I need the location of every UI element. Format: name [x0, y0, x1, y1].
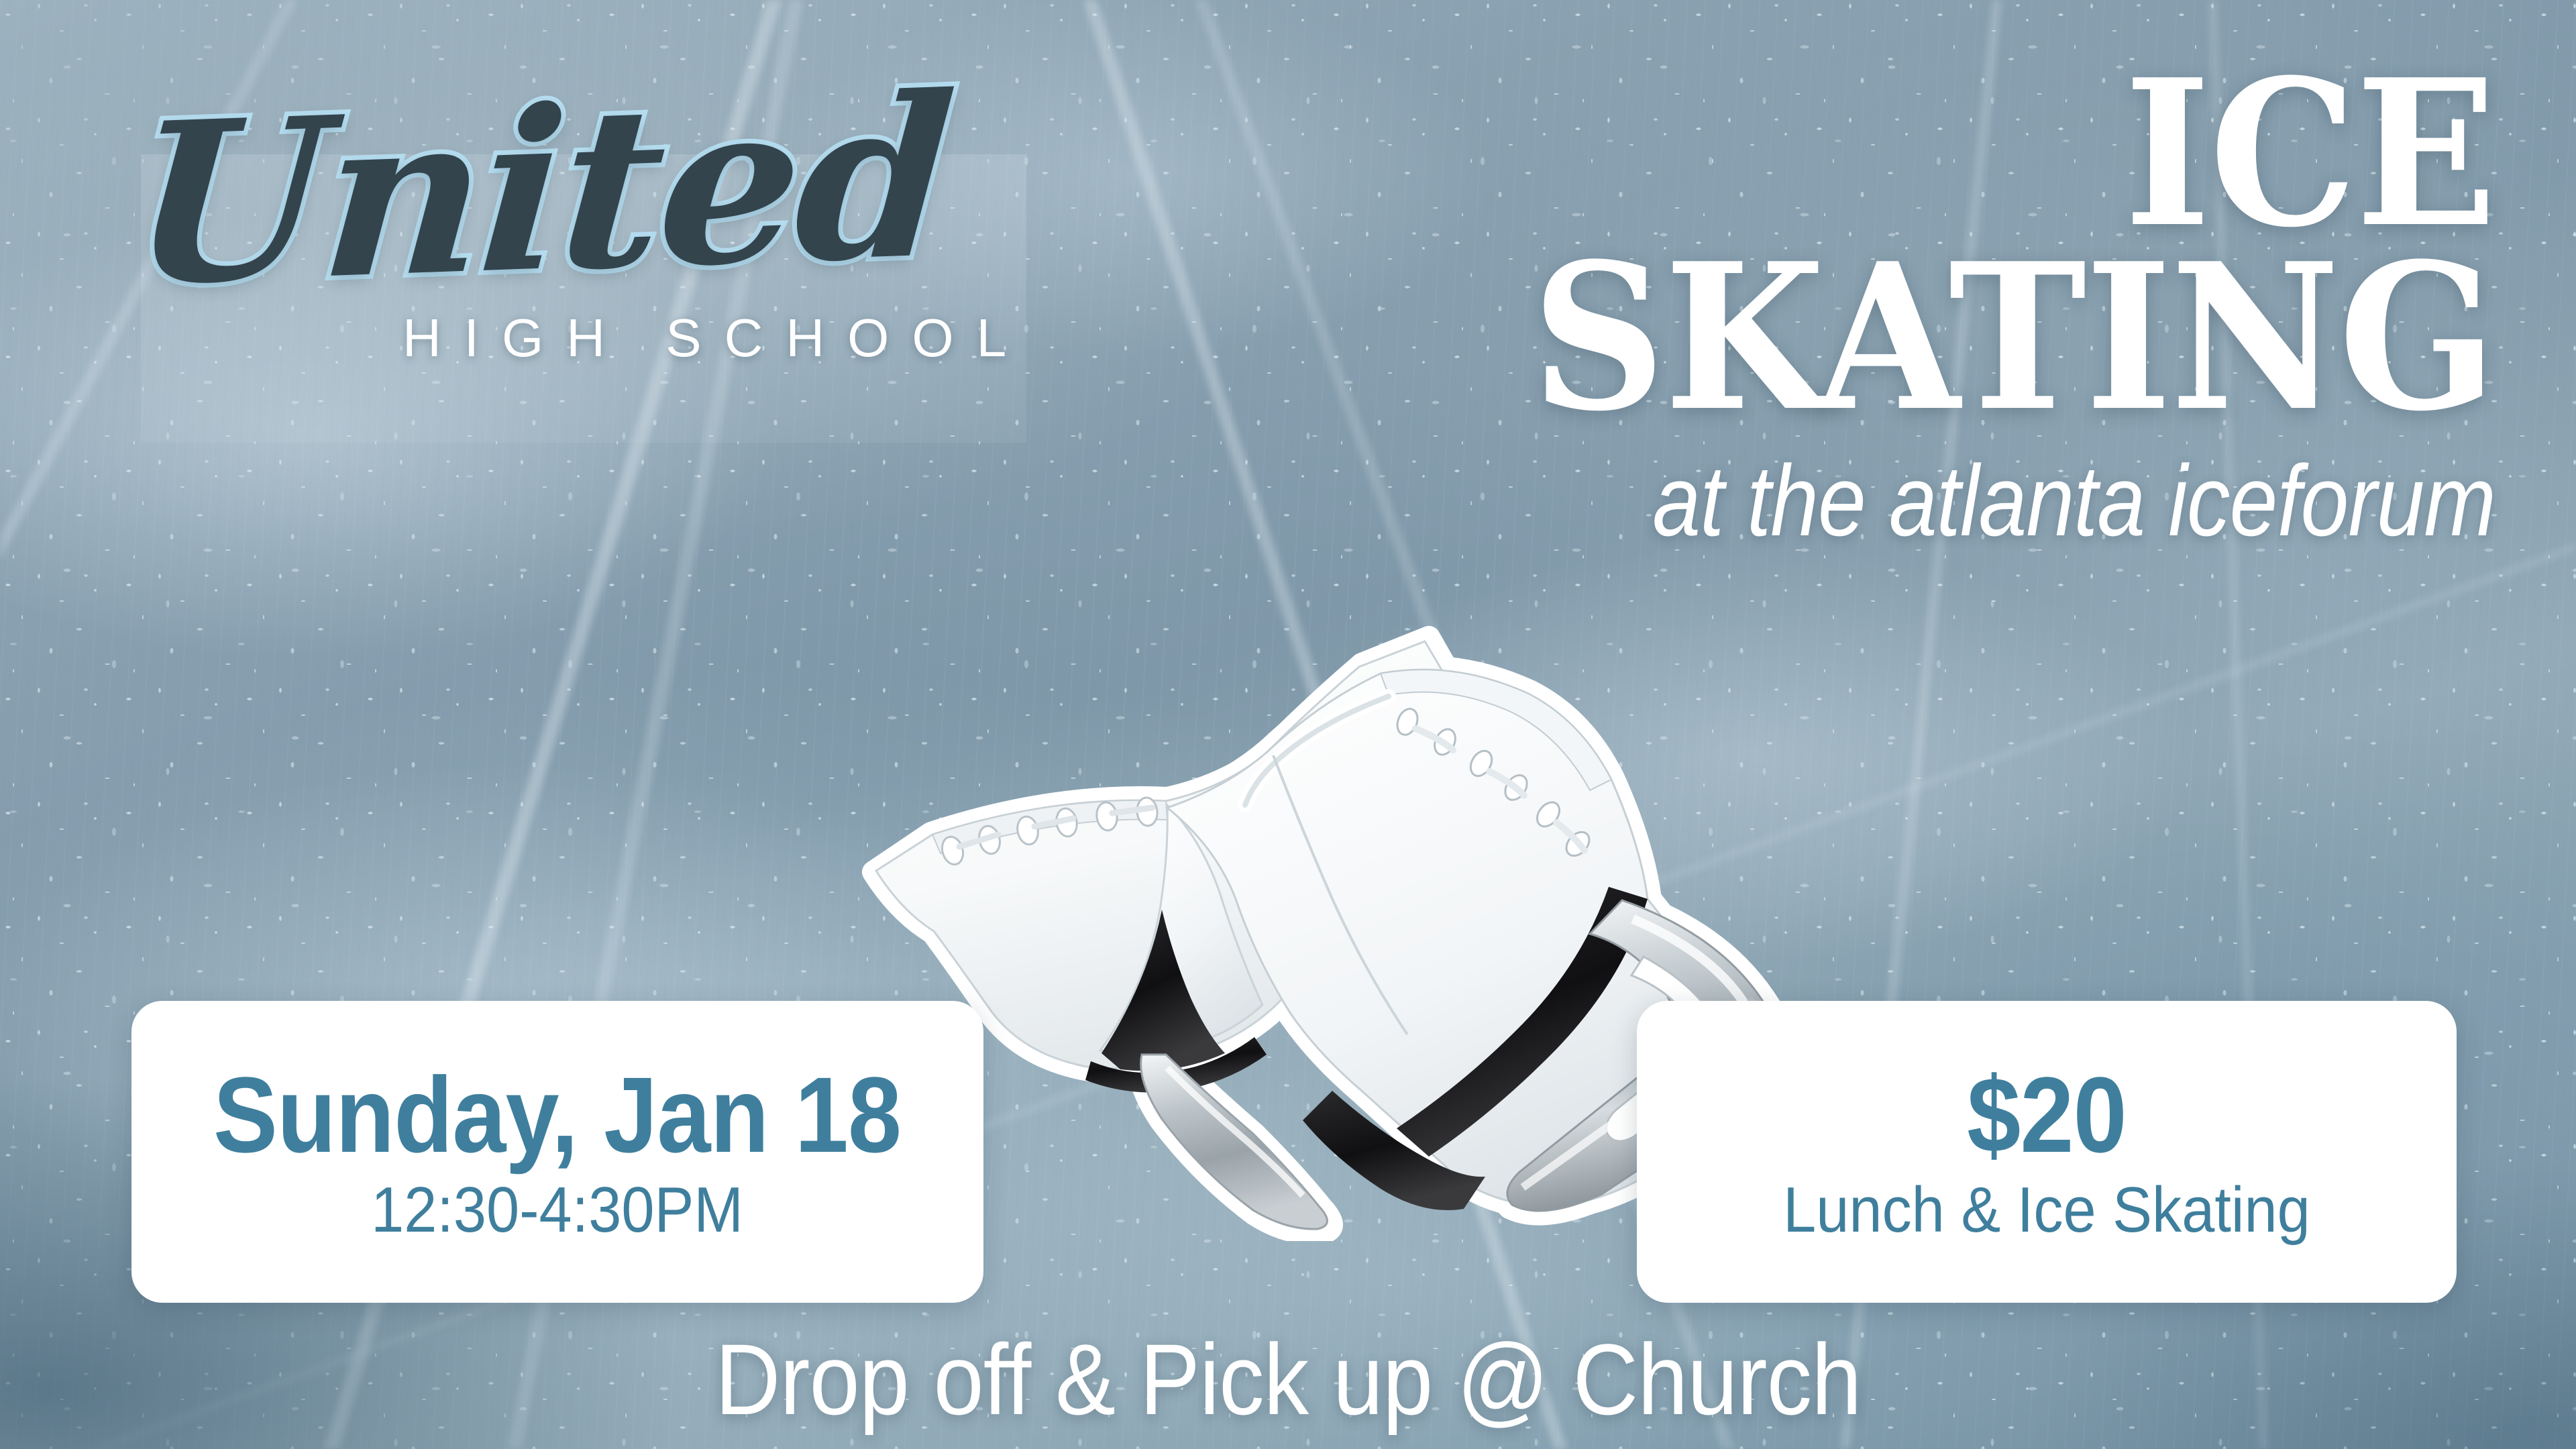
event-title-line-2: SKATING — [1076, 251, 2495, 424]
event-title-block: ICE SKATING at the atlanta iceforum — [953, 67, 2495, 559]
event-title-line-1: ICE — [1076, 67, 2495, 240]
date-card-time: 12:30-4:30PM — [372, 1178, 744, 1242]
dropoff-note: Drop off & Pick up @ Church — [0, 1322, 2576, 1438]
date-card-heading: Sunday, Jan 18 — [213, 1061, 901, 1169]
school-logo: United HIGH SCHOOL — [121, 101, 1073, 369]
price-card-includes: Lunch & Ice Skating — [1783, 1178, 2310, 1242]
price-card-heading: $20 — [1967, 1061, 2127, 1169]
ice-skating-flyer: United HIGH SCHOOL ICE SKATING at the at… — [0, 0, 2576, 1449]
date-card: Sunday, Jan 18 12:30-4:30PM — [131, 1001, 983, 1303]
dropoff-note-text: Drop off & Pick up @ Church — [715, 1322, 1861, 1438]
price-card: $20 Lunch & Ice Skating — [1637, 1001, 2457, 1303]
school-name-script: United — [113, 68, 1083, 311]
event-venue-subtitle: at the atlanta iceforum — [1169, 443, 2495, 559]
